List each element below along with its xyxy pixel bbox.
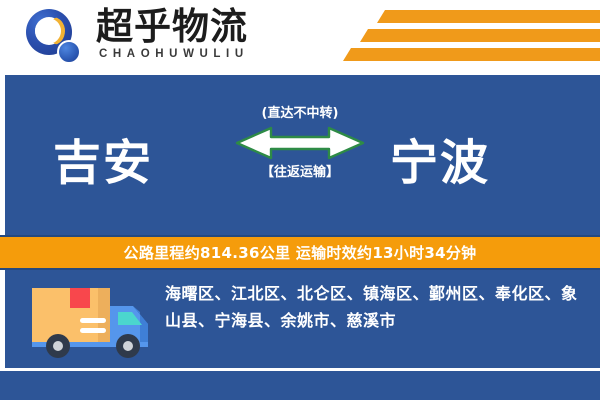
footer-strip (0, 371, 600, 400)
logo-dot-shape (57, 40, 81, 64)
distance-duration-banner: 公路里程约814.36公里 运输时效约13小时34分钟 (0, 235, 600, 270)
delivery-truck-icon (30, 282, 155, 360)
bidirectional-arrow-icon (235, 126, 365, 160)
round-trip-label: 【往返运输】 (215, 164, 385, 182)
distance-duration-text: 公路里程约814.36公里 运输时效约13小时34分钟 (124, 242, 477, 263)
route-panel: 吉安 (直达不中转) 【往返运输】 宁波 公路里程约814.36公里 运输时效约… (5, 75, 600, 368)
coverage-districts-text: 海曙区、江北区、北仑区、镇海区、鄞州区、奉化区、象山县、宁海县、余姚市、慈溪市 (165, 280, 585, 334)
direct-shipping-label: (直达不中转) (215, 105, 385, 123)
brand-name-cn: 超乎物流 (96, 6, 248, 48)
chaohu-logo-icon (26, 9, 84, 67)
page-header: 超乎物流 CHAOHUWULIU (0, 0, 600, 75)
destination-city: 宁波 (390, 123, 490, 193)
logo-crescent-mask (35, 18, 61, 44)
route-arrow-block: (直达不中转) 【往返运输】 (215, 105, 385, 217)
coverage-section: 海曙区、江北区、北仑区、镇海区、鄞州区、奉化区、象山县、宁海县、余姚市、慈溪市 (5, 272, 600, 368)
brand-name-en: CHAOHUWULIU (99, 48, 249, 60)
origin-city: 吉安 (53, 123, 153, 193)
decorative-stripes-icon (330, 10, 600, 65)
route-row: 吉安 (直达不中转) 【往返运输】 宁波 (5, 105, 600, 215)
